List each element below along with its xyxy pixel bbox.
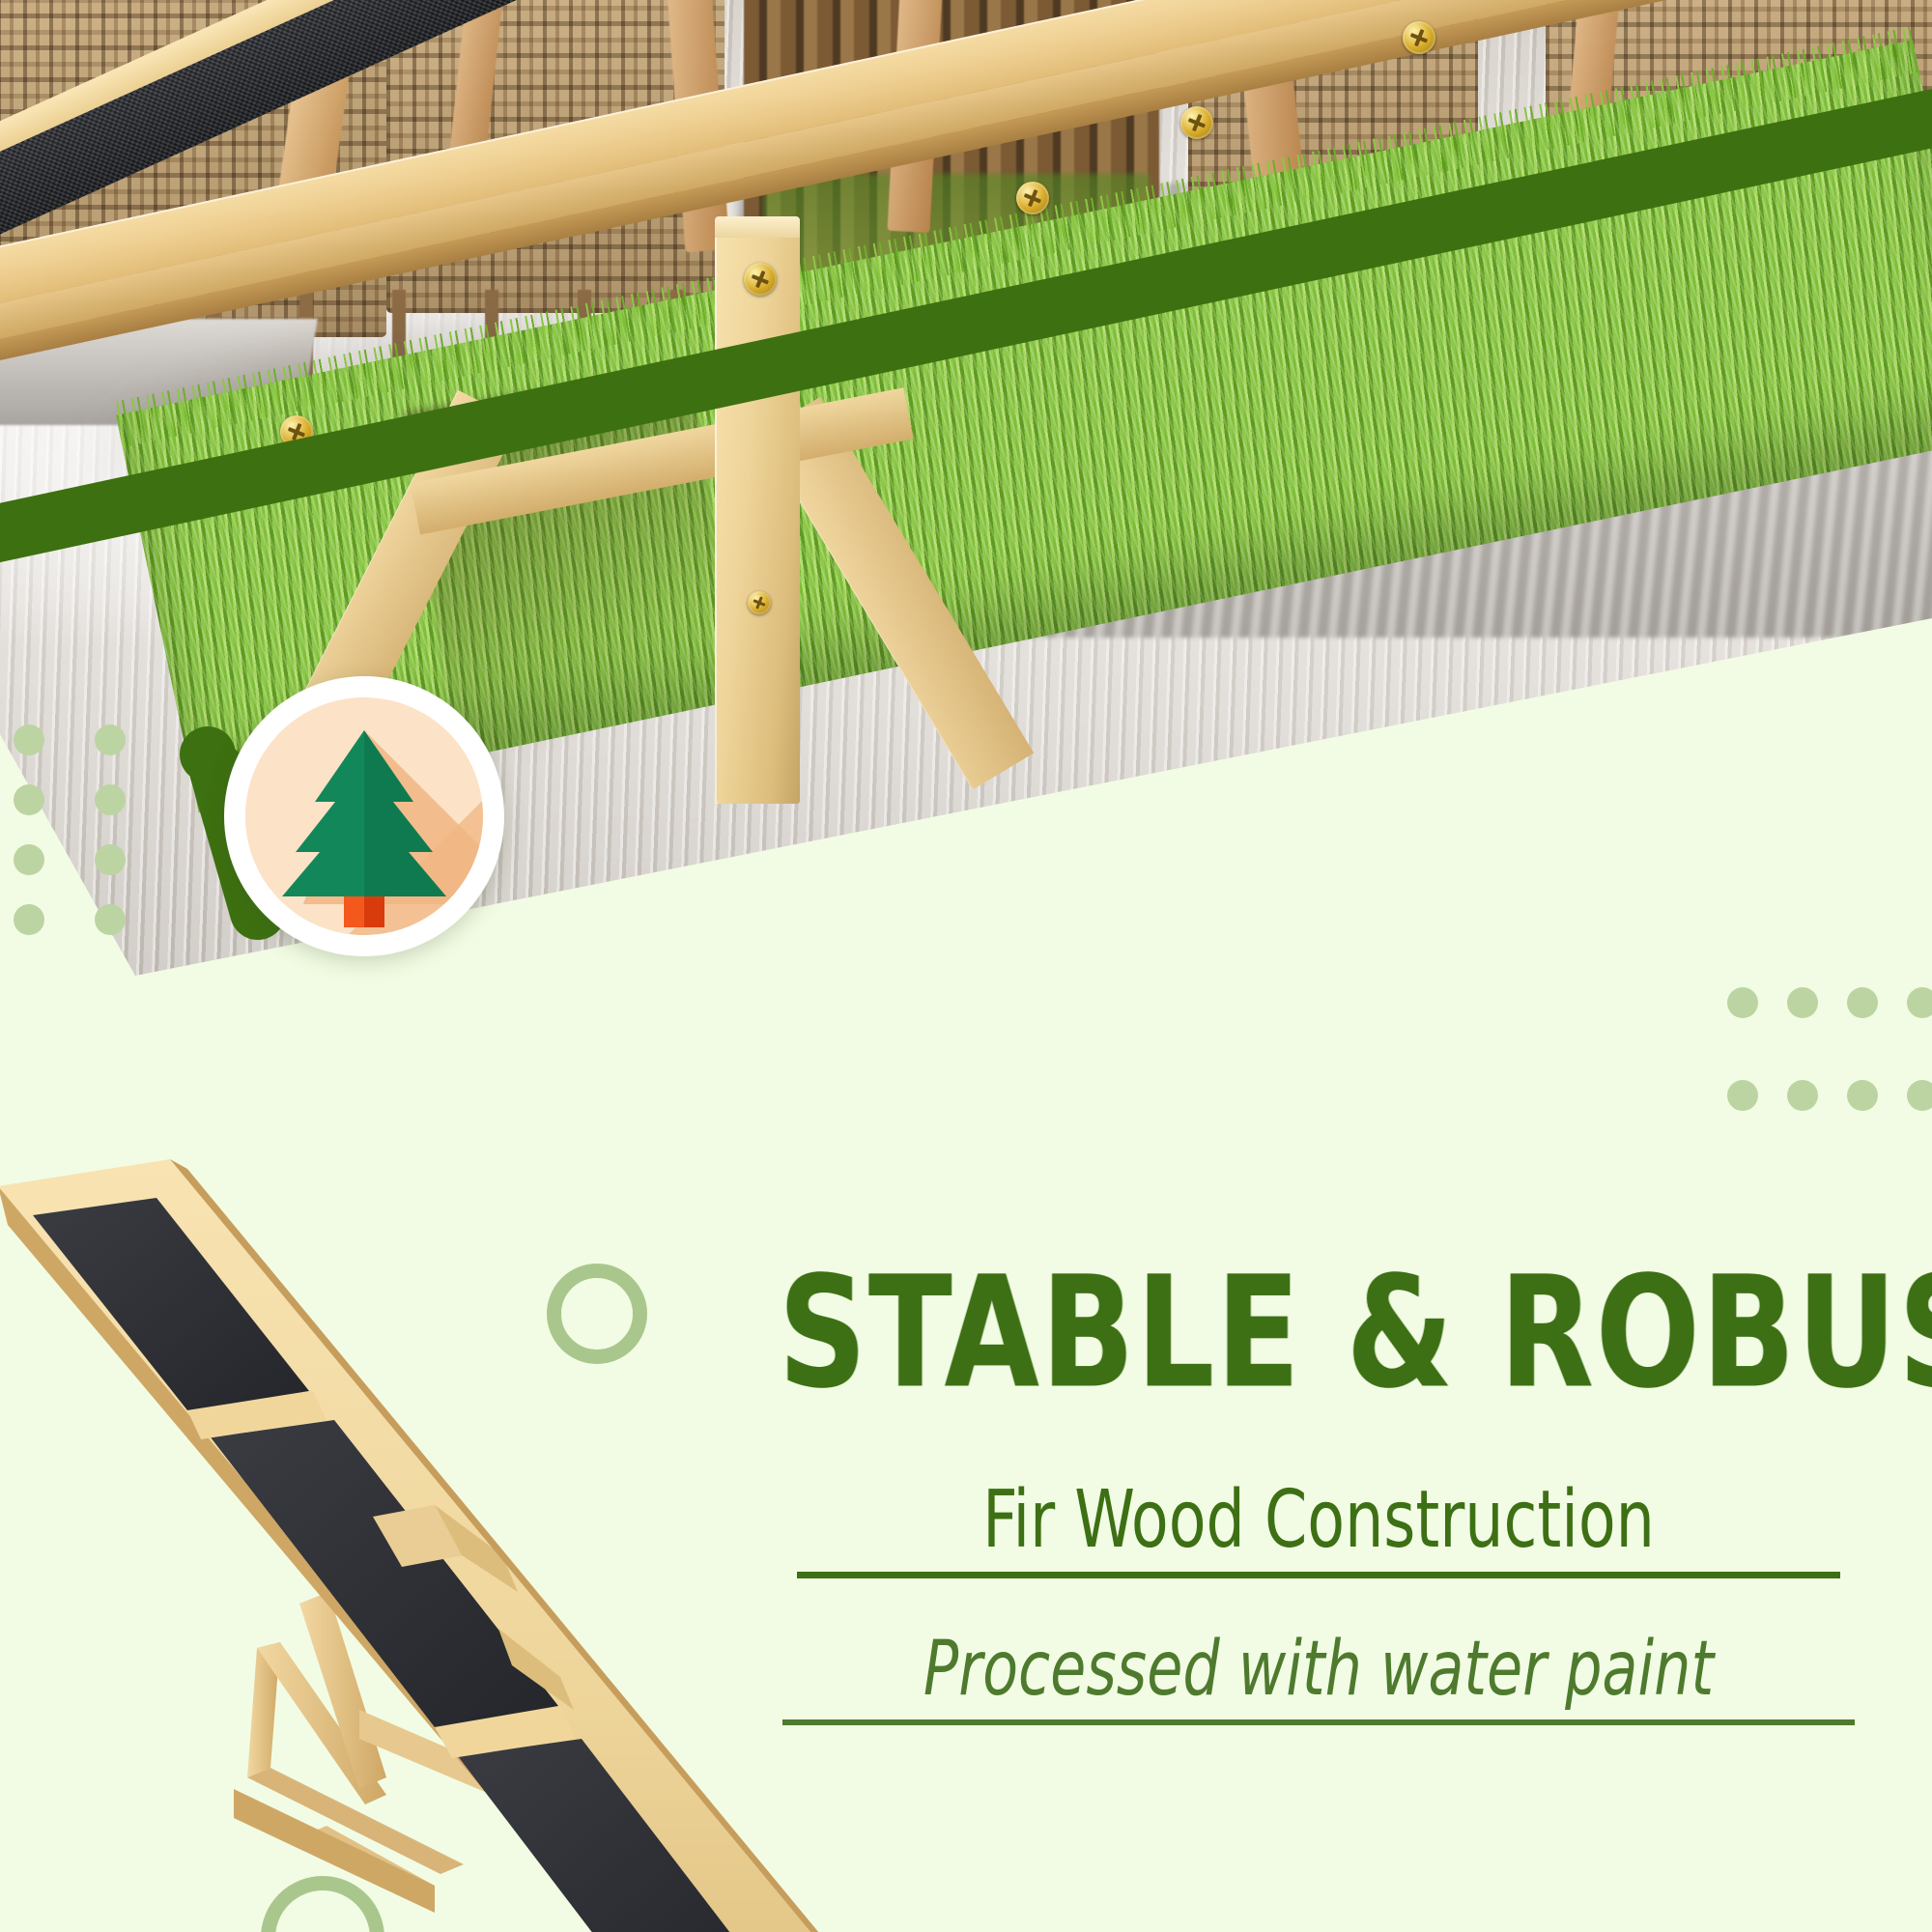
fir-tree-badge xyxy=(224,676,504,956)
subtitle-fir-wood-text: Fir Wood Construction xyxy=(982,1474,1655,1566)
decor-dot xyxy=(95,844,126,875)
decor-dot xyxy=(1907,1080,1932,1111)
decor-dot xyxy=(95,784,126,815)
decor-dot xyxy=(14,844,44,875)
subtitle-water-paint-text: Processed with water paint xyxy=(923,1626,1714,1713)
brass-screw xyxy=(748,591,771,614)
dot-pattern-right xyxy=(1727,987,1932,1173)
feature-copy-block: STABLE & ROBUST Fir Wood Construction Pr… xyxy=(744,1256,1893,1725)
subtitle-underline-1 xyxy=(797,1572,1840,1578)
decor-dot xyxy=(95,724,126,755)
decor-dot xyxy=(1787,987,1818,1018)
dot-pattern-left xyxy=(14,717,176,956)
decor-dot xyxy=(1907,987,1932,1018)
subtitle-fir-wood: Fir Wood Construction xyxy=(824,1479,1812,1562)
decor-dot xyxy=(95,904,126,935)
decor-dot xyxy=(1787,1080,1818,1111)
fir-tree-badge-fill xyxy=(245,697,483,935)
brass-screw xyxy=(1016,182,1049,214)
decor-dot xyxy=(1847,1080,1878,1111)
page-title: STABLE & ROBUST xyxy=(779,1256,1860,1409)
fir-tree-icon xyxy=(245,697,483,935)
decor-dot xyxy=(14,904,44,935)
brass-screw xyxy=(1180,106,1213,139)
subtitle-underline-2 xyxy=(782,1719,1855,1725)
decor-dot xyxy=(14,784,44,815)
decor-dot xyxy=(14,724,44,755)
brass-screw xyxy=(1403,21,1435,54)
subtitle-water-paint: Processed with water paint xyxy=(824,1631,1812,1710)
decor-dot xyxy=(1847,987,1878,1018)
decor-ring-near-headline xyxy=(547,1264,647,1364)
decor-dot xyxy=(1727,1080,1758,1111)
brass-screw xyxy=(744,263,777,296)
banner-canvas: STABLE & ROBUST Fir Wood Construction Pr… xyxy=(0,0,1932,1932)
decor-dot xyxy=(1727,987,1758,1018)
